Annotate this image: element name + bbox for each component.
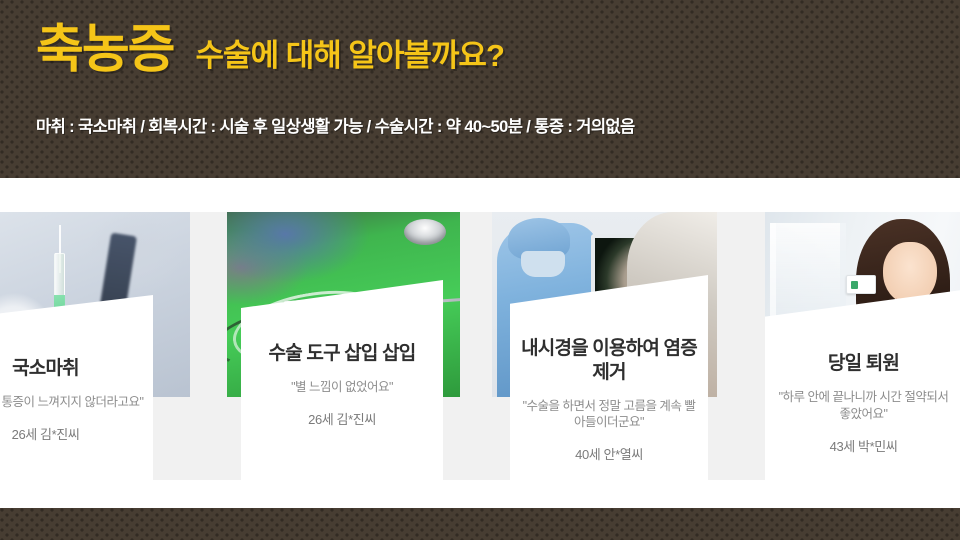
step-card-2-quote: "별 느낌이 없었어요" [241,379,443,396]
condition-name: 축농증 [36,24,174,76]
step-card-4-person: 43세 박*민씨 [765,436,960,455]
step-card-4-title: 당일 퇴원 [765,352,960,376]
step-card-2-person: 26세 김*진씨 [241,409,443,428]
step-card-2-panel: 수술 도구 삽입 삽입 "별 느낌이 없었어요" 26세 김*진씨 [241,280,443,480]
header-banner: 축농증 수술에 대해 알아볼까요? 마취 : 국소마취 / 회복시간 : 시술 … [0,0,960,178]
steps-strip: 국소마취 "마취 후엔 통증이 느껴지지 않더라고요" 26세 김*진씨 [0,178,960,508]
infographic-page: 축농증 수술에 대해 알아볼까요? 마취 : 국소마취 / 회복시간 : 시술 … [0,0,960,540]
step-card-4-quote: "하루 안에 끝나니까 시간 절약되서 좋았어요" [765,389,960,423]
step-card-3-quote: "수술을 하면서 정말 고름을 계속 빨아들이더군요" [510,398,708,432]
step-card-3[interactable]: 내시경을 이용하여 염증제거 "수술을 하면서 정말 고름을 계속 빨아들이더군… [492,212,717,480]
step-card-1-title: 국소마취 [0,357,153,381]
step-card-2[interactable]: 수술 도구 삽입 삽입 "별 느낌이 없었어요" 26세 김*진씨 [227,212,460,480]
metal-bowl-shape [404,219,446,245]
step-card-1-panel: 국소마취 "마취 후엔 통증이 느껴지지 않더라고요" 26세 김*진씨 [0,295,153,480]
surgical-mask-shape [521,251,565,277]
header-title-row: 축농증 수술에 대해 알아볼까요? [36,24,504,76]
surgery-info-line: 마취 : 국소마취 / 회복시간 : 시술 후 일상생활 가능 / 수술시간 :… [36,113,635,137]
patient-face-shape [883,242,937,304]
held-card-shape [846,275,876,294]
page-title: 수술에 대해 알아볼까요? [196,40,504,76]
strip-bottom-spacer [0,480,960,508]
step-card-3-title: 내시경을 이용하여 염증제거 [510,337,708,385]
step-card-1[interactable]: 국소마취 "마취 후엔 통증이 느껴지지 않더라고요" 26세 김*진씨 [0,212,190,480]
step-card-4[interactable]: 당일 퇴원 "하루 안에 끝나니까 시간 절약되서 좋았어요" 43세 박*민씨 [765,212,960,480]
step-card-2-title: 수술 도구 삽입 삽입 [241,342,443,366]
strip-top-spacer [0,178,960,212]
step-card-1-quote: "마취 후엔 통증이 느껴지지 않더라고요" [0,394,153,411]
step-card-4-panel: 당일 퇴원 "하루 안에 끝나니까 시간 절약되서 좋았어요" 43세 박*민씨 [765,290,960,480]
step-card-3-person: 40세 안*열씨 [510,444,708,463]
step-card-1-person: 26세 김*진씨 [0,424,153,443]
step-card-3-panel: 내시경을 이용하여 염증제거 "수술을 하면서 정말 고름을 계속 빨아들이더군… [510,275,708,480]
footer-band [0,508,960,540]
